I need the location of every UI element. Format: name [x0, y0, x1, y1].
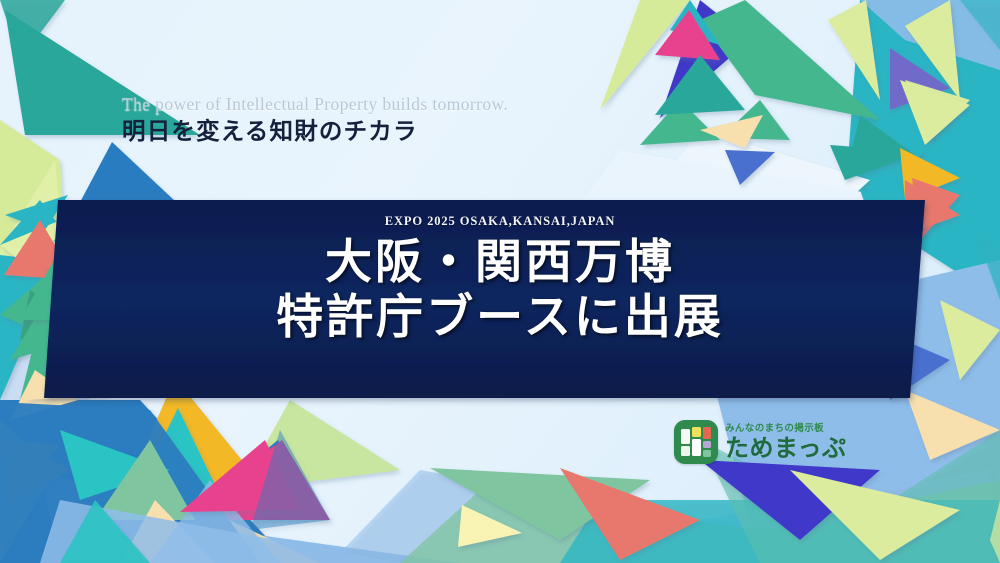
triangle-confetti-background [0, 0, 1000, 563]
banner-canvas: The power of Intellectual Property build… [0, 0, 1000, 563]
tagline-japanese: 明日を変える知財のチカラ [122, 117, 508, 149]
tamemap-logo-text: みんなのまちの掲示板 ためまっぷ [725, 424, 847, 460]
tamemap-name: ためまっぷ [725, 436, 847, 460]
tamemap-logo[interactable]: みんなのまちの掲示板 ためまっぷ [674, 420, 847, 464]
tagline-block: The power of Intellectual Property build… [122, 94, 508, 149]
tamemap-subtitle: みんなのまちの掲示板 [725, 424, 847, 434]
tagline-english: The power of Intellectual Property build… [122, 94, 508, 116]
tamemap-grid-icon [674, 420, 718, 464]
